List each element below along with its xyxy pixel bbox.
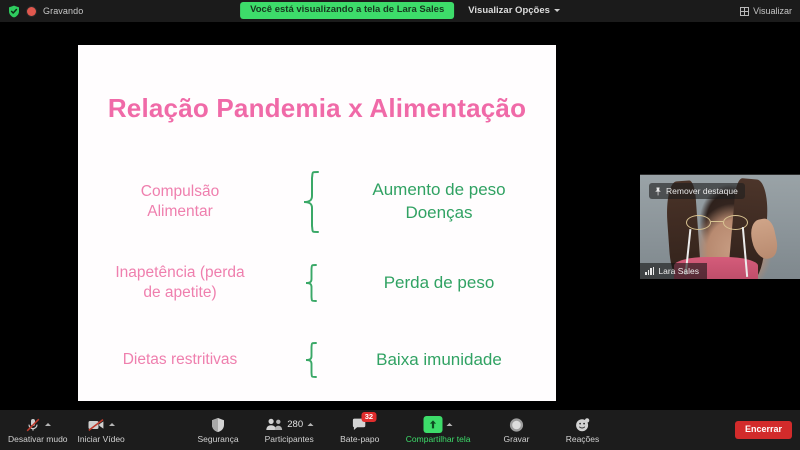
meeting-stage: Relação Pandemia x Alimentação Compulsão… [0,22,800,410]
signal-bars-icon [645,267,654,275]
shared-screen-slide[interactable]: Relação Pandemia x Alimentação Compulsão… [78,45,556,401]
view-options-label: Visualizar Opções [468,5,550,16]
video-camera-off-icon [87,418,105,432]
participants-button-label: Participantes [265,435,314,444]
slide-cause-text: Inapetência (perdade apetite) [78,263,288,303]
meeting-controls-toolbar: Desativar mudo Iniciar Vídeo [0,410,800,450]
slide-effect-text: Perda de peso [334,272,556,295]
top-bar-center: Você está visualizando a tela de Lara Sa… [240,2,560,19]
slide-row: Inapetência (perdade apetite) Perda de p… [78,263,556,303]
participants-icon [265,418,283,431]
security-button-label: Segurança [198,435,239,444]
participant-name-badge: Lara Sales [640,263,707,279]
chevron-up-icon[interactable] [307,423,313,426]
view-layout-label: Visualizar [753,6,792,16]
chevron-up-icon[interactable] [447,423,453,426]
remove-spotlight-label: Remover destaque [666,186,738,196]
shield-icon [211,417,226,433]
chevron-down-icon [554,9,560,12]
curly-brace-icon [288,341,334,379]
share-screen-button[interactable]: Compartilhar tela [404,413,473,444]
view-options-button[interactable]: Visualizar Opções [468,5,560,16]
video-decoration [686,215,748,230]
view-layout-button[interactable]: Visualizar [740,0,792,22]
end-meeting-button[interactable]: Encerrar [735,421,792,439]
participants-button[interactable]: 280 Participantes [263,413,316,444]
participant-name-label: Lara Sales [658,266,699,276]
chevron-up-icon[interactable] [109,423,115,426]
chat-button-label: Bate-papo [340,435,379,444]
slide-cause-text: Dietas restritivas [78,350,288,370]
slide-row: Dietas restritivas Baixa imunidade [78,341,556,379]
toolbar-center-group: Segurança 280 Participantes [196,413,605,444]
record-button-label: Gravar [504,435,530,444]
slide-effect-text: Baixa imunidade [334,349,556,372]
recording-indicator-icon [27,7,36,16]
zoom-meeting-window: Gravando Você está visualizando a tela d… [0,0,800,450]
mute-button-label: Desativar mudo [8,435,68,444]
share-screen-button-label: Compartilhar tela [406,435,471,444]
toolbar-left-group: Desativar mudo Iniciar Vídeo [6,413,127,444]
reactions-button[interactable]: Reações [561,413,605,444]
microphone-muted-icon [25,417,41,433]
recording-label: Gravando [43,6,83,16]
shield-check-icon[interactable] [8,5,20,18]
chat-unread-badge: 32 [362,412,376,422]
chat-button[interactable]: 32 Bate-papo [338,413,382,444]
record-button[interactable]: Gravar [495,413,539,444]
record-circle-icon [509,417,525,433]
slide-cause-text: CompulsãoAlimentar [78,182,288,222]
security-button[interactable]: Segurança [196,413,241,444]
participant-video-tile[interactable]: Remover destaque Lara Sales [640,174,800,279]
start-video-button-label: Iniciar Vídeo [78,435,125,444]
start-video-button[interactable]: Iniciar Vídeo [76,413,127,444]
reactions-button-label: Reações [566,435,600,444]
participants-count: 280 [287,419,303,430]
slide-row: CompulsãoAlimentar Aumento de pesoDoença… [78,170,556,234]
slide-effect-text: Aumento de pesoDoenças [334,179,556,225]
grid-view-icon [740,7,749,16]
pin-icon [654,187,662,196]
top-bar: Gravando Você está visualizando a tela d… [0,0,800,22]
curly-brace-icon [288,263,334,303]
share-screen-icon [424,416,443,433]
top-bar-left: Gravando [0,5,83,18]
slide-title: Relação Pandemia x Alimentação [78,93,556,124]
curly-brace-icon [288,170,334,234]
chevron-up-icon[interactable] [45,423,51,426]
reactions-smiley-icon [575,417,591,433]
remove-spotlight-button[interactable]: Remover destaque [649,183,745,199]
mute-button[interactable]: Desativar mudo [6,413,70,444]
sharing-status-banner: Você está visualizando a tela de Lara Sa… [240,2,454,19]
